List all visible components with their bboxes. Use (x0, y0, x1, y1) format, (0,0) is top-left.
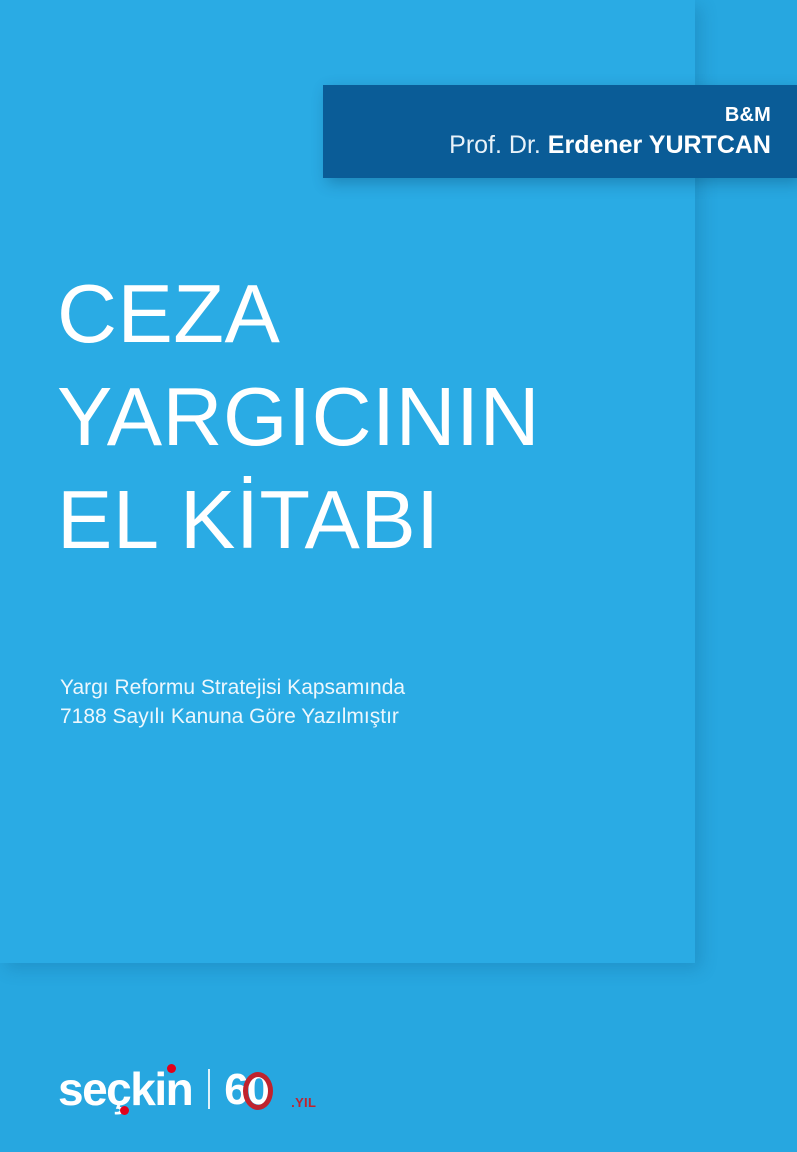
title-line-3: EL KİTABI (57, 468, 677, 571)
title-line-2: YARGICININ (57, 365, 677, 468)
author-banner: B&M Prof. Dr. Erdener YURTCAN (323, 85, 797, 178)
cedilla-dot-icon (120, 1106, 129, 1115)
author-title-prefix: Prof. Dr. (449, 131, 548, 159)
i-dot-icon (167, 1064, 176, 1073)
book-cover: B&M Prof. Dr. Erdener YURTCAN CEZA YARGI… (0, 0, 797, 1152)
publisher-logo: seçkin 60 .YIL (58, 1060, 316, 1112)
anniversary-suffix: .YIL (291, 1095, 316, 1110)
imprint-label: B&M (725, 105, 771, 125)
book-subtitle: Yargı Reformu Stratejisi Kapsamında 7188… (60, 673, 660, 731)
author-line: Prof. Dr. Erdener YURTCAN (449, 132, 771, 158)
publisher-brand: seçkin (58, 1066, 192, 1112)
book-title: CEZA YARGICININ EL KİTABI (57, 262, 677, 571)
subtitle-line-1: Yargı Reformu Stratejisi Kapsamında (60, 673, 660, 702)
author-name: Erdener YURTCAN (548, 131, 771, 159)
title-line-1: CEZA (57, 262, 677, 365)
logo-divider (208, 1069, 210, 1109)
subtitle-line-2: 7188 Sayılı Kanuna Göre Yazılmıştır (60, 702, 660, 731)
anniversary-mark: 60 .YIL (224, 1068, 316, 1112)
